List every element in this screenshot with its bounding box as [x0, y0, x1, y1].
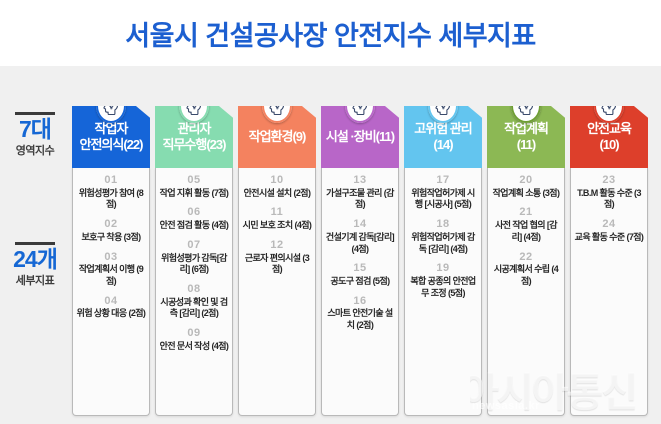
item-label: 건설기계 감독[감리] (4점) — [324, 232, 396, 255]
item-label: 공도구 점검 (5점) — [324, 276, 396, 288]
column-header-label: 고위험 관리(14) — [412, 121, 473, 154]
item-label: 시민 보호 조치 (4점) — [241, 220, 313, 232]
list-item[interactable]: 09안전 문서 작성 (4점) — [158, 327, 230, 352]
column-item-list: 01위험성평가 참여 (8점)02보호구 착용 (3점)03작업계획서 이행 (… — [72, 168, 150, 416]
indicator-column: 고위험 관리(14)17위험작업허가제 시행 [시공사] (5점)18위험작업허… — [404, 84, 482, 416]
column-header-line2: (11) — [502, 137, 550, 153]
column-header[interactable]: 관리자직무수행(23) — [155, 106, 233, 168]
list-item[interactable]: 02보호구 착용 (3점) — [75, 218, 147, 243]
column-header-line2: (14) — [412, 137, 473, 153]
column-header[interactable]: 고위험 관리(14) — [404, 106, 482, 168]
legend-rule — [15, 112, 55, 115]
indicator-column: 안전교육(10)23T.B.M 활동 수준 (3점)24교육 활동 수준 (7점… — [570, 84, 648, 416]
list-item[interactable]: 23T.B.M 활동 수준 (3점) — [573, 174, 645, 211]
head-lightbulb-icon — [428, 89, 458, 123]
item-number: 21 — [490, 206, 562, 220]
item-number: 20 — [490, 174, 562, 188]
list-item[interactable]: 03작업계획서 이행 (9점) — [75, 251, 147, 288]
item-number: 24 — [573, 218, 645, 232]
legend-area-index: 7대 영역지수 — [0, 112, 70, 158]
item-label: 시공계획서 수립 (4점) — [490, 264, 562, 287]
head-lightbulb-icon — [179, 89, 209, 123]
indicator-column: 작업자안전의식(22)01위험성평가 참여 (8점)02보호구 착용 (3점)0… — [72, 84, 150, 416]
item-number: 14 — [324, 218, 396, 232]
column-item-list: 20작업계획 소통 (3점)21사전 작업 협의 [감리] (4점)22시공계획… — [487, 168, 565, 416]
item-label: 안전 점검 활동 (4점) — [158, 220, 230, 232]
column-item-list: 17위험작업허가제 시행 [시공사] (5점)18위험작업허가제 감독 [감리]… — [404, 168, 482, 416]
indicator-columns: 작업자안전의식(22)01위험성평가 참여 (8점)02보호구 착용 (3점)0… — [72, 84, 655, 414]
column-header-line2: 안전의식(22) — [78, 137, 145, 153]
list-item[interactable]: 20작업계획 소통 (3점) — [490, 174, 562, 199]
item-label: 작업 지휘 활동 (7점) — [158, 188, 230, 200]
item-label: 위험성평가 참여 (8점) — [75, 188, 147, 211]
list-item[interactable]: 08시공성과 확인 및 검측 [감리] (2점) — [158, 283, 230, 320]
list-item[interactable]: 07위험성평가 감독[감리] (6점) — [158, 239, 230, 276]
column-header[interactable]: 작업계획(11) — [487, 106, 565, 168]
column-header-label: 안전교육(10) — [585, 121, 633, 154]
column-header-label: 작업환경(9) — [247, 129, 308, 145]
item-number: 11 — [241, 206, 313, 220]
item-number: 13 — [324, 174, 396, 188]
item-label: 스마트 안전기술 설치 (2점) — [324, 308, 396, 331]
column-header[interactable]: 작업자안전의식(22) — [72, 106, 150, 168]
list-item[interactable]: 21사전 작업 협의 [감리] (4점) — [490, 206, 562, 243]
list-item[interactable]: 06안전 점검 활동 (4점) — [158, 206, 230, 231]
column-header-line1: 시설 ·장비(11) — [324, 129, 396, 145]
item-number: 18 — [407, 218, 479, 232]
indicator-column: 시설 ·장비(11)13가설구조물 관리 (감점)14건설기계 감독[감리] (… — [321, 84, 399, 416]
item-number: 07 — [158, 239, 230, 253]
item-number: 10 — [241, 174, 313, 188]
item-number: 12 — [241, 239, 313, 253]
indicator-column: 작업계획(11)20작업계획 소통 (3점)21사전 작업 협의 [감리] (4… — [487, 84, 565, 416]
item-label: 교육 활동 수준 (7점) — [573, 232, 645, 244]
item-number: 17 — [407, 174, 479, 188]
head-lightbulb-icon — [511, 89, 541, 123]
indicator-column: 작업환경(9)10안전시설 설치 (2점)11시민 보호 조치 (4점)12근로… — [238, 84, 316, 416]
list-item[interactable]: 12근로자 편의시설 (3점) — [241, 239, 313, 276]
item-number: 01 — [75, 174, 147, 188]
item-number: 04 — [75, 295, 147, 309]
column-item-list: 05작업 지휘 활동 (7점)06안전 점검 활동 (4점)07위험성평가 감독… — [155, 168, 233, 416]
item-label: 복합 공종의 안전업무 조정 (5점) — [407, 276, 479, 299]
list-item[interactable]: 16스마트 안전기술 설치 (2점) — [324, 295, 396, 332]
column-header-line2: (10) — [585, 137, 633, 153]
column-header-line2: 직무수행(23) — [161, 137, 228, 153]
item-number: 23 — [573, 174, 645, 188]
title-band: 서울시 건설공사장 안전지수 세부지표 — [0, 0, 661, 66]
column-header-line1: 작업자 — [78, 121, 145, 137]
column-header-label: 관리자직무수행(23) — [161, 121, 228, 154]
item-number: 16 — [324, 295, 396, 309]
column-header[interactable]: 작업환경(9) — [238, 106, 316, 168]
page-title: 서울시 건설공사장 안전지수 세부지표 — [0, 14, 661, 53]
item-label: 위험성평가 감독[감리] (6점) — [158, 253, 230, 276]
column-header-label: 작업계획(11) — [502, 121, 550, 154]
item-number: 03 — [75, 251, 147, 265]
item-label: 시공성과 확인 및 검측 [감리] (2점) — [158, 297, 230, 320]
list-item[interactable]: 10안전시설 설치 (2점) — [241, 174, 313, 199]
item-label: 위험작업허가제 감독 [감리] (4점) — [407, 232, 479, 255]
item-label: 안전시설 설치 (2점) — [241, 188, 313, 200]
head-lightbulb-icon — [262, 89, 292, 123]
column-item-list: 23T.B.M 활동 수준 (3점)24교육 활동 수준 (7점) — [570, 168, 648, 416]
item-number: 19 — [407, 262, 479, 276]
item-label: 보호구 착용 (3점) — [75, 232, 147, 244]
list-item[interactable]: 24교육 활동 수준 (7점) — [573, 218, 645, 243]
list-item[interactable]: 13가설구조물 관리 (감점) — [324, 174, 396, 211]
column-header-line1: 고위험 관리 — [412, 121, 473, 137]
column-header-line1: 안전교육 — [585, 121, 633, 137]
list-item[interactable]: 04위험 상황 대응 (2점) — [75, 295, 147, 320]
legend-area-label: 영역지수 — [0, 142, 70, 158]
list-item[interactable]: 15공도구 점검 (5점) — [324, 262, 396, 287]
item-label: 안전 문서 작성 (4점) — [158, 341, 230, 353]
infographic-page: 서울시 건설공사장 안전지수 세부지표 7대 영역지수 24개 세부지표 작업자… — [0, 0, 661, 424]
list-item[interactable]: 18위험작업허가제 감독 [감리] (4점) — [407, 218, 479, 255]
item-label: 근로자 편의시설 (3점) — [241, 253, 313, 276]
legend-detail-label: 세부지표 — [0, 272, 70, 288]
item-label: 위험 상황 대응 (2점) — [75, 308, 147, 320]
list-item[interactable]: 17위험작업허가제 시행 [시공사] (5점) — [407, 174, 479, 211]
item-number: 06 — [158, 206, 230, 220]
column-header-line1: 관리자 — [161, 121, 228, 137]
list-item[interactable]: 11시민 보호 조치 (4점) — [241, 206, 313, 231]
column-item-list: 13가설구조물 관리 (감점)14건설기계 감독[감리] (4점)15공도구 점… — [321, 168, 399, 416]
legend-detail-index: 24개 세부지표 — [0, 242, 70, 288]
item-number: 08 — [158, 283, 230, 297]
item-number: 02 — [75, 218, 147, 232]
item-label: T.B.M 활동 수준 (3점) — [573, 188, 645, 211]
legend-rule — [15, 242, 55, 245]
item-number: 09 — [158, 327, 230, 341]
list-item[interactable]: 19복합 공종의 안전업무 조정 (5점) — [407, 262, 479, 299]
column-item-list: 10안전시설 설치 (2점)11시민 보호 조치 (4점)12근로자 편의시설 … — [238, 168, 316, 416]
list-item[interactable]: 05작업 지휘 활동 (7점) — [158, 174, 230, 199]
legend-detail-count: 24개 — [0, 247, 70, 271]
item-label: 작업계획서 이행 (9점) — [75, 264, 147, 287]
column-header-line1: 작업계획 — [502, 121, 550, 137]
head-lightbulb-icon — [345, 89, 375, 123]
item-label: 사전 작업 협의 [감리] (4점) — [490, 220, 562, 243]
item-number: 15 — [324, 262, 396, 276]
list-item[interactable]: 14건설기계 감독[감리] (4점) — [324, 218, 396, 255]
column-header[interactable]: 시설 ·장비(11) — [321, 106, 399, 168]
column-header-line1: 작업환경(9) — [247, 129, 308, 145]
column-header-label: 작업자안전의식(22) — [78, 121, 145, 154]
indicator-column: 관리자직무수행(23)05작업 지휘 활동 (7점)06안전 점검 활동 (4점… — [155, 84, 233, 416]
item-label: 작업계획 소통 (3점) — [490, 188, 562, 200]
item-number: 05 — [158, 174, 230, 188]
item-label: 가설구조물 관리 (감점) — [324, 188, 396, 211]
head-lightbulb-icon — [96, 89, 126, 123]
legend-area-count: 7대 — [0, 117, 70, 141]
column-header-label: 시설 ·장비(11) — [324, 129, 396, 145]
item-label: 위험작업허가제 시행 [시공사] (5점) — [407, 188, 479, 211]
column-header[interactable]: 안전교육(10) — [570, 106, 648, 168]
item-number: 22 — [490, 251, 562, 265]
list-item[interactable]: 01위험성평가 참여 (8점) — [75, 174, 147, 211]
head-lightbulb-icon — [594, 89, 624, 123]
list-item[interactable]: 22시공계획서 수립 (4점) — [490, 251, 562, 288]
